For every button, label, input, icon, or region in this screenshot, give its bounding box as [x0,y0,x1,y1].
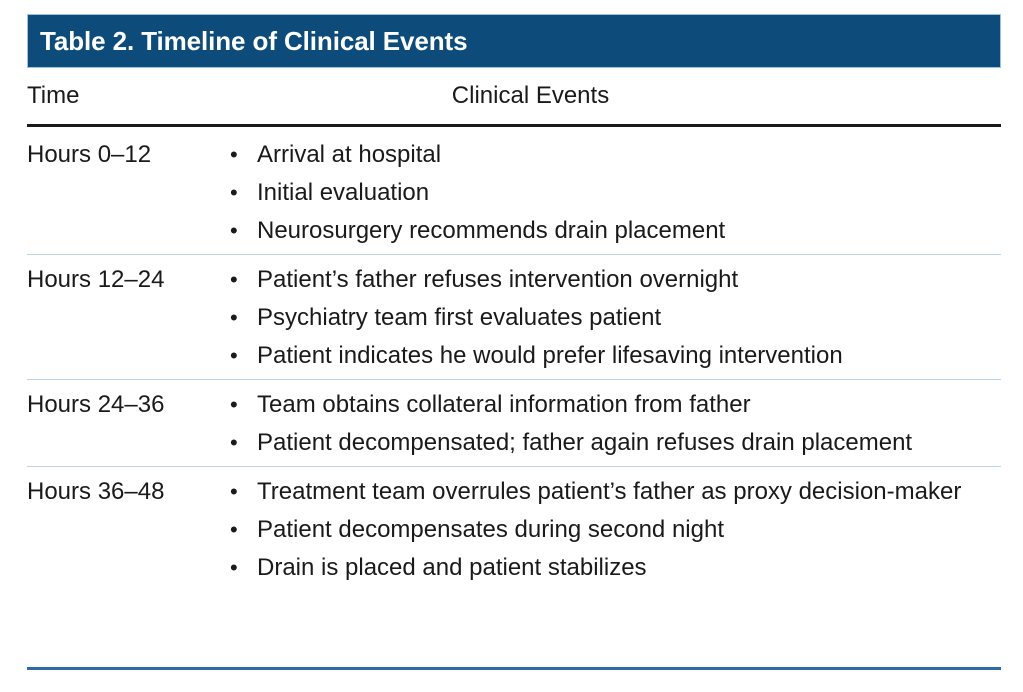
list-item: •Patient indicates he would prefer lifes… [230,337,1001,375]
header-rule [27,124,1001,127]
table-figure: Table 2. Timeline of Clinical Events Tim… [0,0,1023,692]
bullet-icon: • [230,136,257,174]
list-item: •Team obtains collateral information fro… [230,386,1001,424]
row-time-label: Hours 24–36 [27,386,230,424]
row-events-list: •Patient’s father refuses intervention o… [230,261,1001,375]
row-time-label: Hours 36–48 [27,473,230,511]
bullet-icon: • [230,511,257,549]
bullet-icon: • [230,261,257,299]
list-item: •Initial evaluation [230,174,1001,212]
bullet-icon: • [230,212,257,250]
list-item: •Arrival at hospital [230,136,1001,174]
bullet-icon: • [230,473,257,511]
bullet-icon: • [230,174,257,212]
row-events-list: •Team obtains collateral information fro… [230,386,1001,462]
row-time-label: Hours 0–12 [27,136,230,174]
table-title: Table 2. Timeline of Clinical Events [28,28,467,54]
list-item-text: Patient decompensated; father again refu… [257,424,1001,462]
list-item-text: Patient indicates he would prefer lifesa… [257,337,1001,375]
table-title-bar: Table 2. Timeline of Clinical Events [27,14,1001,68]
table-body: Hours 0–12•Arrival at hospital•Initial e… [27,130,1001,591]
table-bottom-rule [27,667,1001,670]
list-item-text: Initial evaluation [257,174,1001,212]
row-events-list: •Arrival at hospital•Initial evaluation•… [230,136,1001,250]
list-item: •Treatment team overrules patient’s fath… [230,473,1001,511]
column-header-time: Time [27,84,230,124]
list-item-text: Patient’s father refuses intervention ov… [257,261,1001,299]
list-item: •Drain is placed and patient stabilizes [230,549,1001,587]
column-header-row: Time Clinical Events [27,84,1001,124]
table-row: Hours 36–48•Treatment team overrules pat… [27,467,1001,591]
column-header-clinical-events: Clinical Events [230,84,1001,124]
list-item-text: Neurosurgery recommends drain placement [257,212,1001,250]
row-time-label: Hours 12–24 [27,261,230,299]
row-events-list: •Treatment team overrules patient’s fath… [230,473,1001,587]
bullet-icon: • [230,424,257,462]
table-row: Hours 24–36•Team obtains collateral info… [27,380,1001,467]
bullet-icon: • [230,386,257,424]
list-item-text: Patient decompensates during second nigh… [257,511,1001,549]
list-item-text: Arrival at hospital [257,136,1001,174]
bullet-icon: • [230,337,257,375]
list-item: •Psychiatry team first evaluates patient [230,299,1001,337]
bullet-icon: • [230,549,257,587]
list-item-text: Treatment team overrules patient’s fathe… [257,473,1001,511]
list-item-text: Team obtains collateral information from… [257,386,1001,424]
list-item-text: Psychiatry team first evaluates patient [257,299,1001,337]
list-item: •Patient decompensates during second nig… [230,511,1001,549]
table-row: Hours 12–24•Patient’s father refuses int… [27,255,1001,380]
list-item: •Neurosurgery recommends drain placement [230,212,1001,250]
bullet-icon: • [230,299,257,337]
list-item-text: Drain is placed and patient stabilizes [257,549,1001,587]
list-item: •Patient decompensated; father again ref… [230,424,1001,462]
list-item: •Patient’s father refuses intervention o… [230,261,1001,299]
table-row: Hours 0–12•Arrival at hospital•Initial e… [27,130,1001,255]
